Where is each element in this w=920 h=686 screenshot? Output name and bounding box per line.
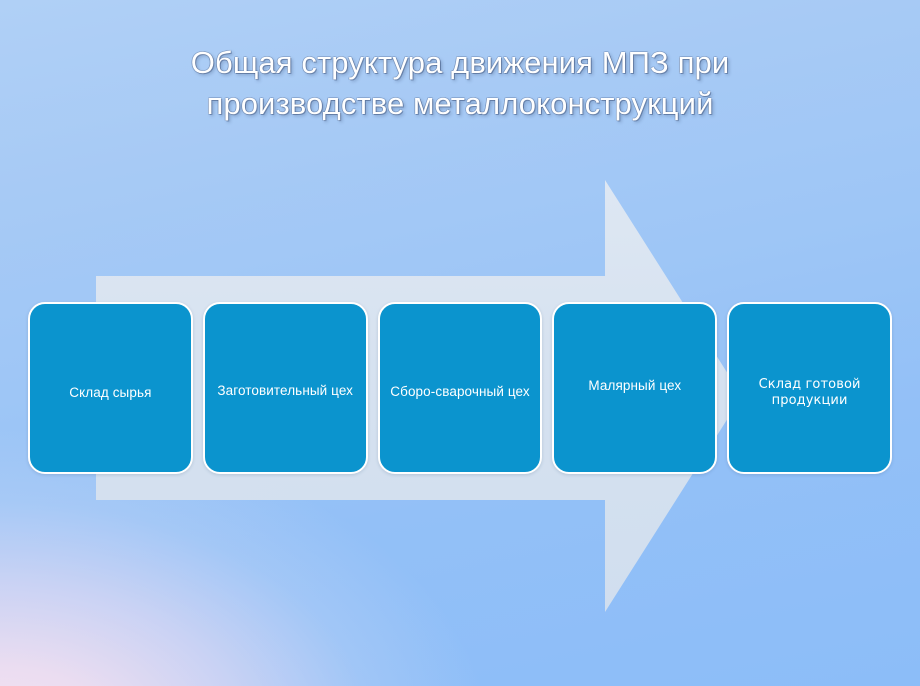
process-step-label-4: Малярный цех [561, 378, 709, 394]
process-step-label-5: Склад готовой продукции [736, 377, 884, 409]
process-step-box-1[interactable]: Склад сырья [28, 302, 193, 474]
slide-title-line-1: Общая структура движения МПЗ при [60, 42, 860, 83]
slide-title-line-2: производстве металлоконструкций [60, 83, 860, 124]
process-step-box-5[interactable]: Склад готовой продукции [727, 302, 892, 474]
process-step-row: Склад сырья Заготовительный цех Сборо-св… [28, 302, 892, 474]
process-step-box-4[interactable]: Малярный цех [552, 302, 717, 474]
process-step-label-1: Склад сырья [36, 385, 184, 401]
process-step-box-3[interactable]: Сборо-сварочный цех [378, 302, 543, 474]
slide-canvas: Общая структура движения МПЗ при произво… [0, 0, 920, 686]
slide-title: Общая структура движения МПЗ при произво… [60, 42, 860, 124]
process-step-label-2: Заготовительный цех [211, 383, 359, 399]
process-step-box-2[interactable]: Заготовительный цех [203, 302, 368, 474]
process-step-label-3: Сборо-сварочный цех [386, 384, 534, 400]
